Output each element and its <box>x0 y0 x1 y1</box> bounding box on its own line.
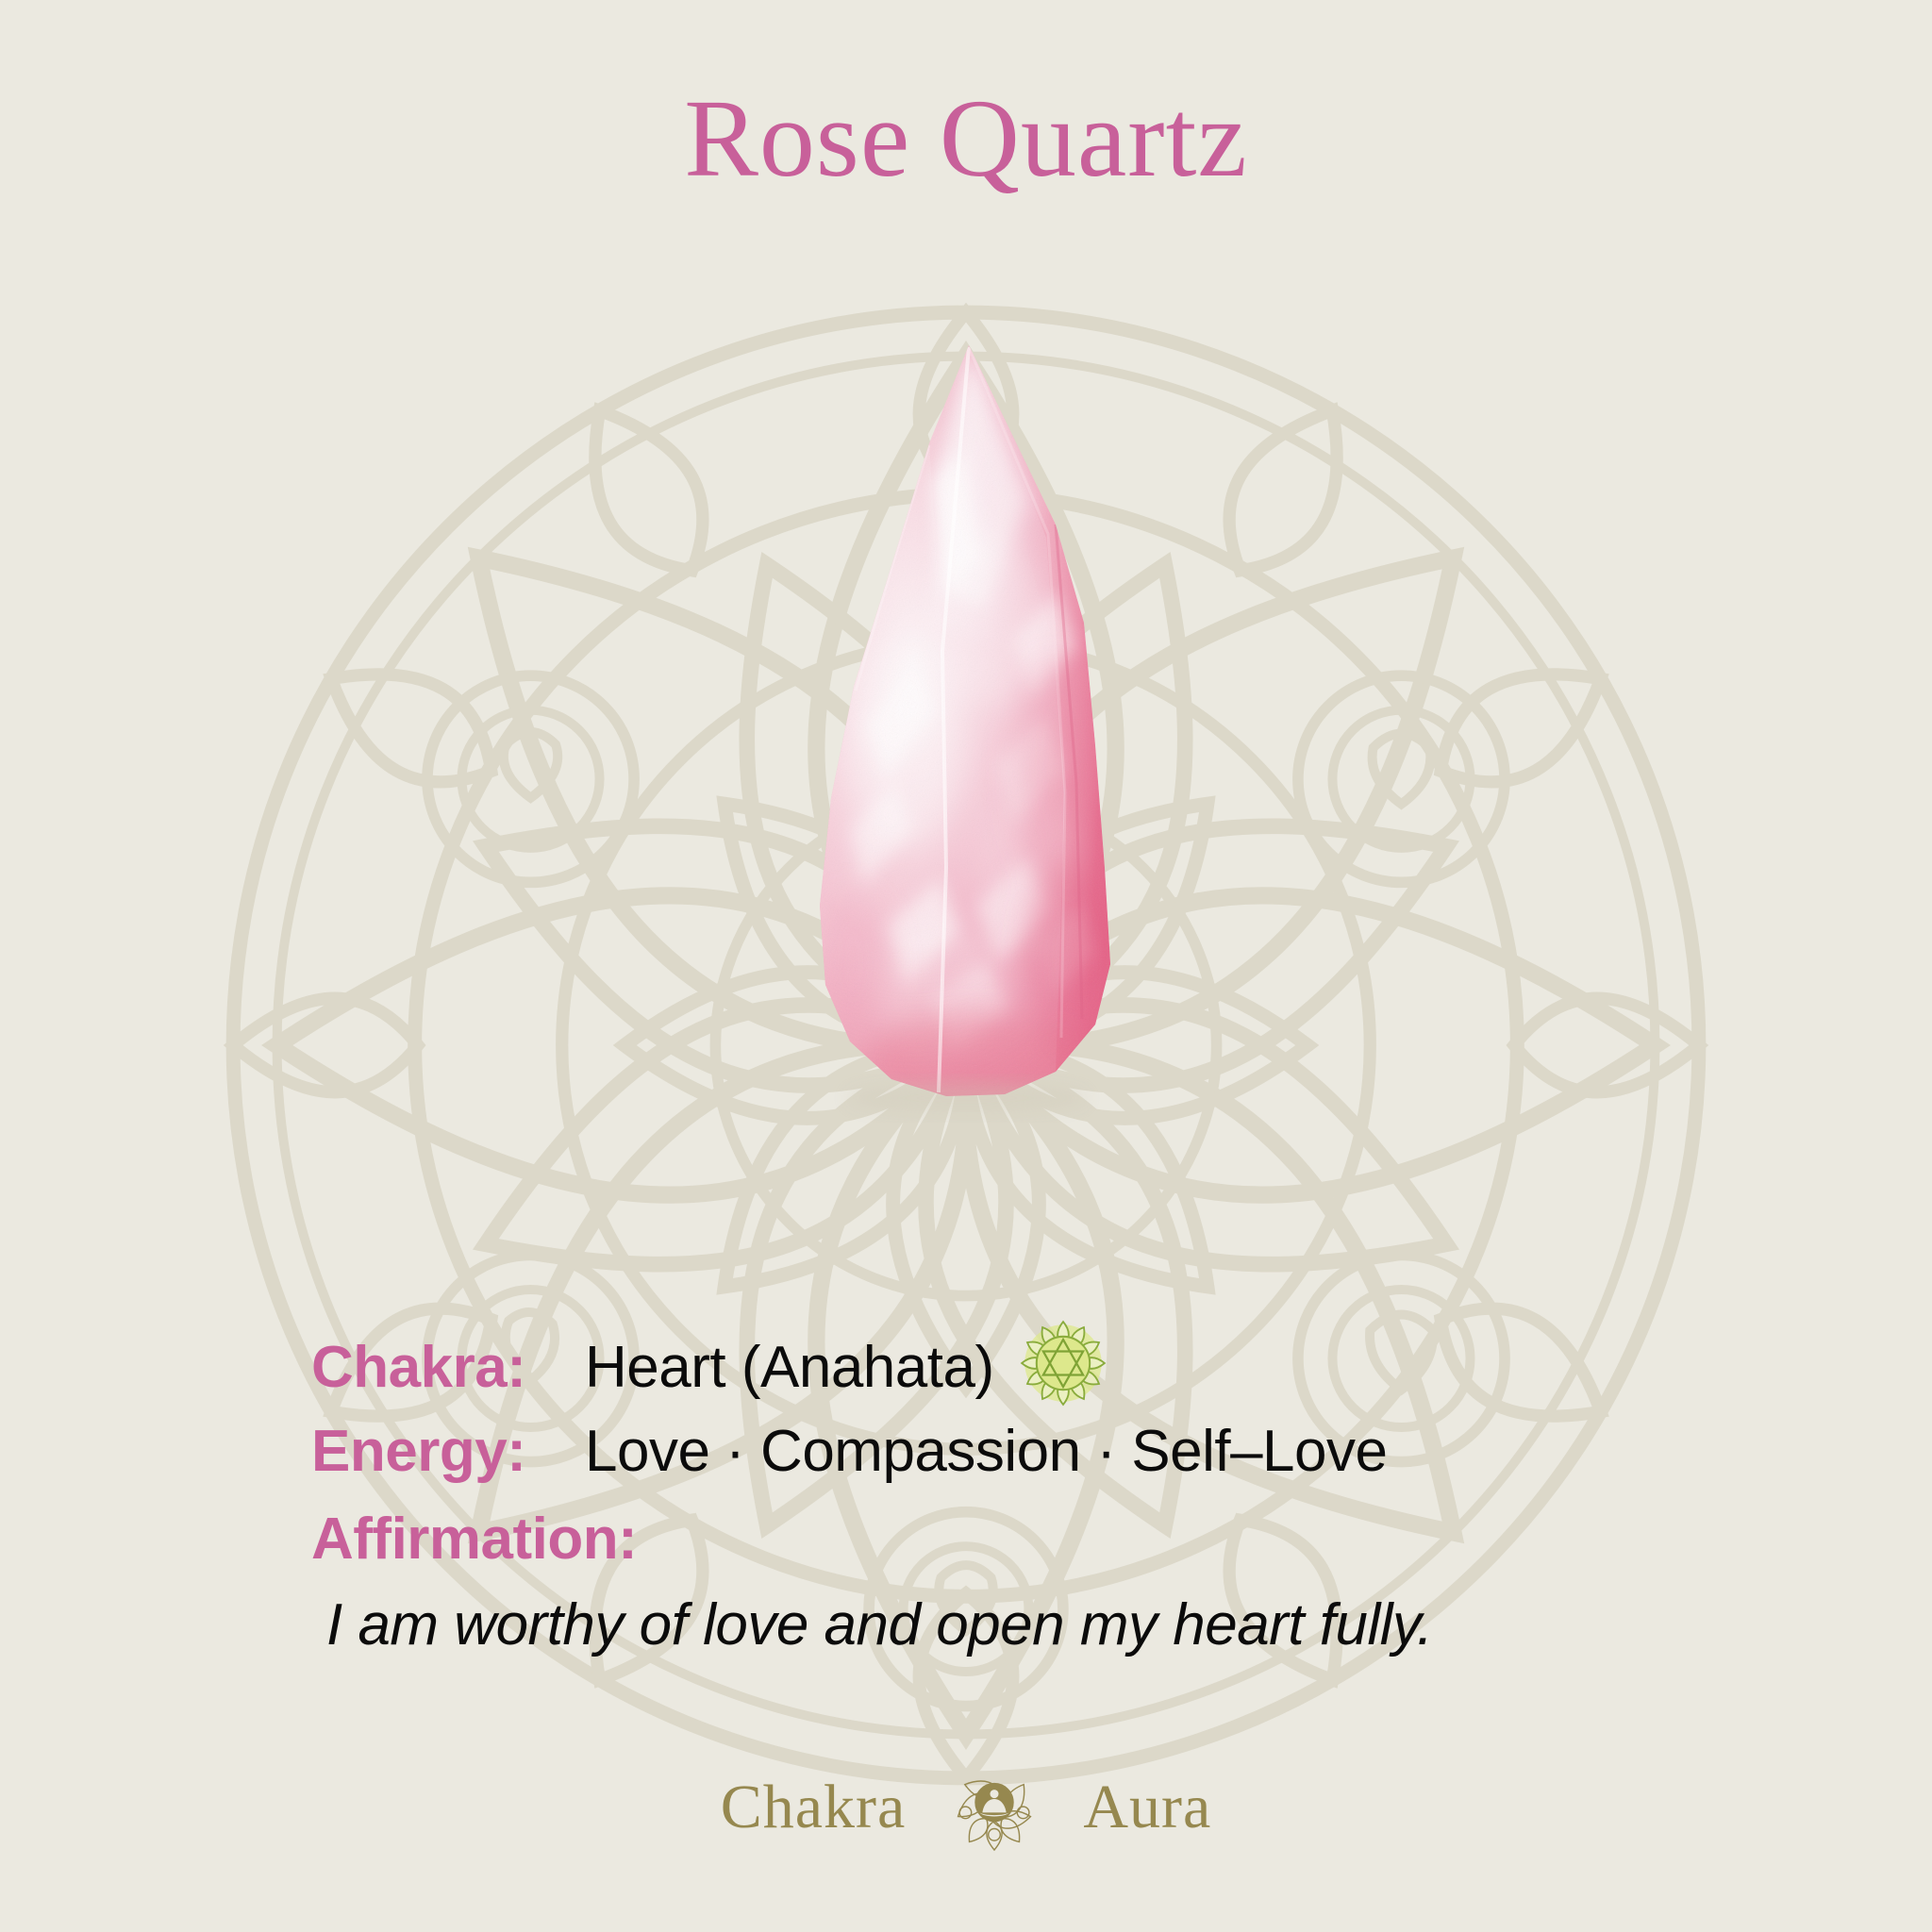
chakra-row: Chakra: Heart (Anahata) <box>311 1298 1651 1401</box>
lotus-meditation-logo <box>943 1757 1045 1858</box>
brand-name-left: Chakra <box>721 1772 907 1843</box>
crystal-attributes: Chakra: Heart (Anahata) <box>311 1298 1651 1658</box>
chakra-value: Heart (Anahata) <box>585 1334 994 1401</box>
page-title: Rose Quartz <box>0 83 1932 194</box>
affirmation-label: Affirmation: <box>311 1506 1651 1573</box>
energy-value: Love · Compassion · Self–Love <box>585 1418 1388 1485</box>
rose-quartz-crystal-image <box>744 340 1188 1189</box>
energy-row: Energy: Love · Compassion · Self–Love <box>311 1418 1651 1485</box>
crystal-info-card: Rose Quartz <box>0 0 1932 1932</box>
brand-name-right: Aura <box>1083 1772 1211 1843</box>
affirmation-text: I am worthy of love and open my heart fu… <box>326 1591 1651 1658</box>
chakra-label: Chakra: <box>311 1334 564 1401</box>
brand-footer: Chakra <box>0 1757 1932 1858</box>
anahata-chakra-symbol <box>1019 1319 1108 1407</box>
energy-label: Energy: <box>311 1418 564 1485</box>
